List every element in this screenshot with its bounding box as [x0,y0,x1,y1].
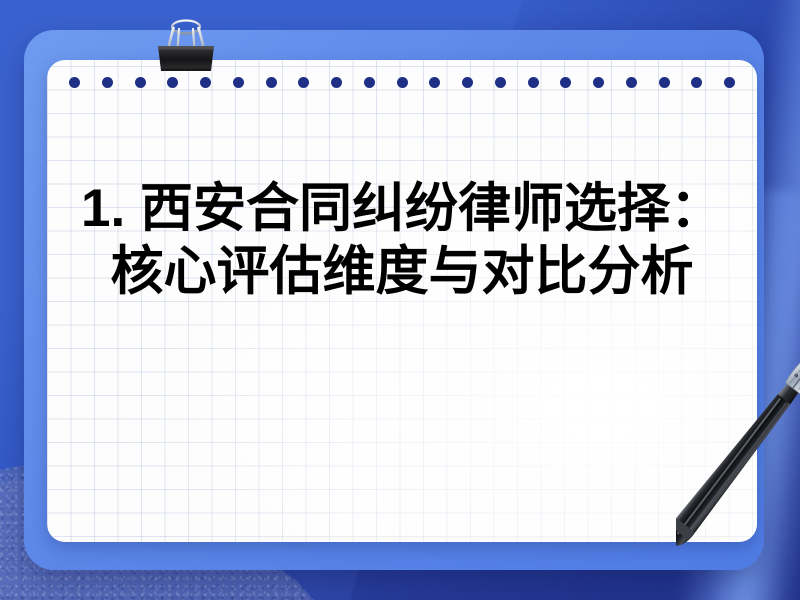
punch-dot [626,77,637,88]
binder-clip-icon [148,18,224,80]
punch-dot [233,77,244,88]
slide-title: 1. 西安合同纠纷律师选择：核心评估维度与对比分析 [65,178,739,303]
slide-canvas: 1. 西安合同纠纷律师选择：核心评估维度与对比分析 [0,0,800,600]
punch-dot [102,77,113,88]
punch-dot [691,77,702,88]
punch-dot [429,77,440,88]
punch-dot [659,77,670,88]
punch-dot [528,77,539,88]
grid-paper: 1. 西安合同纠纷律师选择：核心评估维度与对比分析 [47,60,757,542]
punch-dot [560,77,571,88]
punch-dot [69,77,80,88]
punch-dot [593,77,604,88]
punch-dot [462,77,473,88]
punch-dot [364,77,375,88]
punch-dot [724,77,735,88]
punch-dot [397,77,408,88]
punch-dot [135,77,146,88]
punch-dot [495,77,506,88]
punch-dot [298,77,309,88]
punch-dot [331,77,342,88]
punch-dot [266,77,277,88]
fountain-pen-icon [676,318,800,578]
